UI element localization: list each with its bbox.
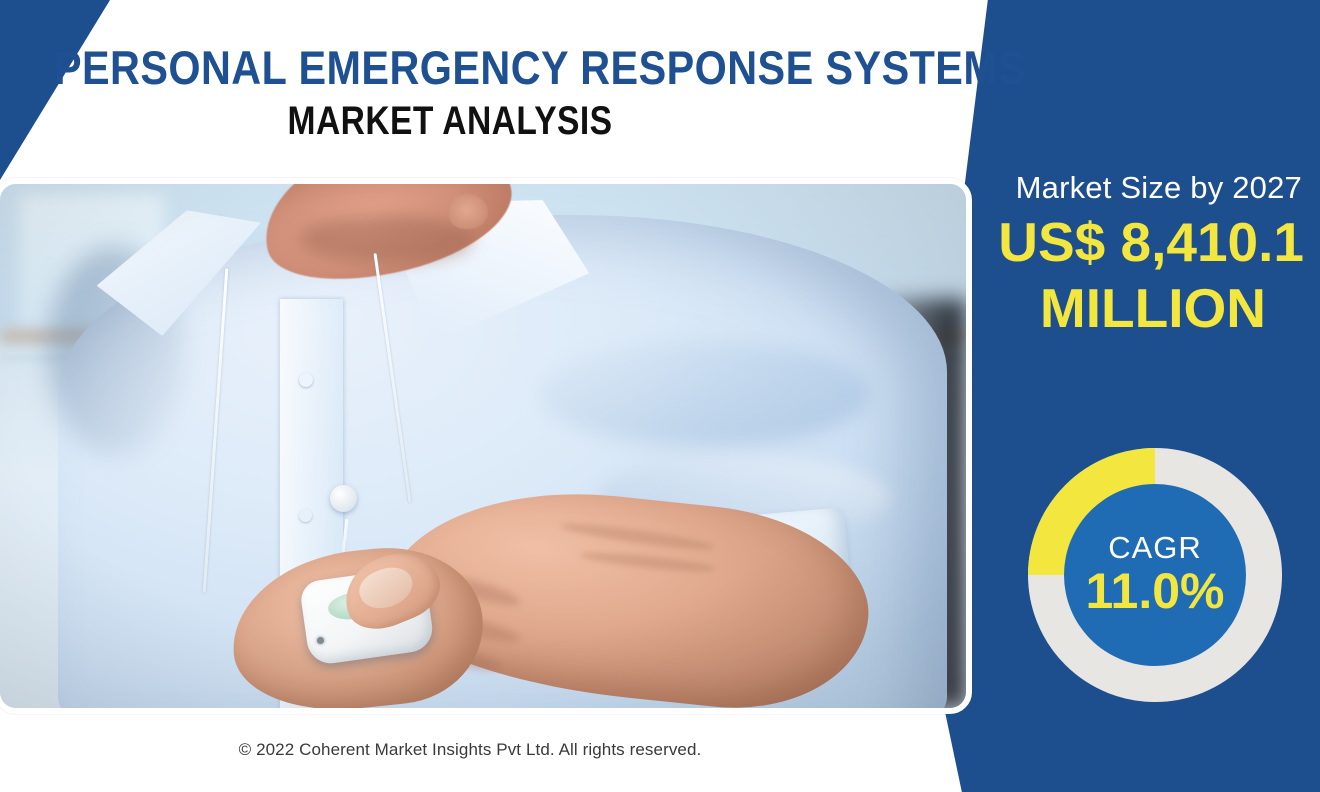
cagr-donut-chart: CAGR 11.0% <box>1027 447 1283 703</box>
cagr-value: 11.0% <box>1085 565 1224 618</box>
copyright-footer: © 2022 Coherent Market Insights Pvt Ltd.… <box>0 740 940 760</box>
cagr-label: CAGR <box>1108 532 1202 565</box>
market-size-unit: MILLION <box>946 281 1266 336</box>
market-size-value: US$ 8,410.1 <box>944 216 1304 269</box>
infographic-canvas: PERSONAL EMERGENCY RESPONSE SYSTEMS MARK… <box>0 0 1320 792</box>
market-size-label: Market Size by 2027 <box>942 170 1302 206</box>
hero-photo <box>0 184 966 708</box>
page-title: PERSONAL EMERGENCY RESPONSE SYSTEMS <box>54 44 846 91</box>
photo-vignette <box>0 184 966 708</box>
hero-photo-frame <box>0 178 972 714</box>
header: PERSONAL EMERGENCY RESPONSE SYSTEMS MARK… <box>0 0 960 175</box>
page-subtitle: MARKET ANALYSIS <box>72 101 828 141</box>
donut-center-disc: CAGR 11.0% <box>1064 484 1246 666</box>
